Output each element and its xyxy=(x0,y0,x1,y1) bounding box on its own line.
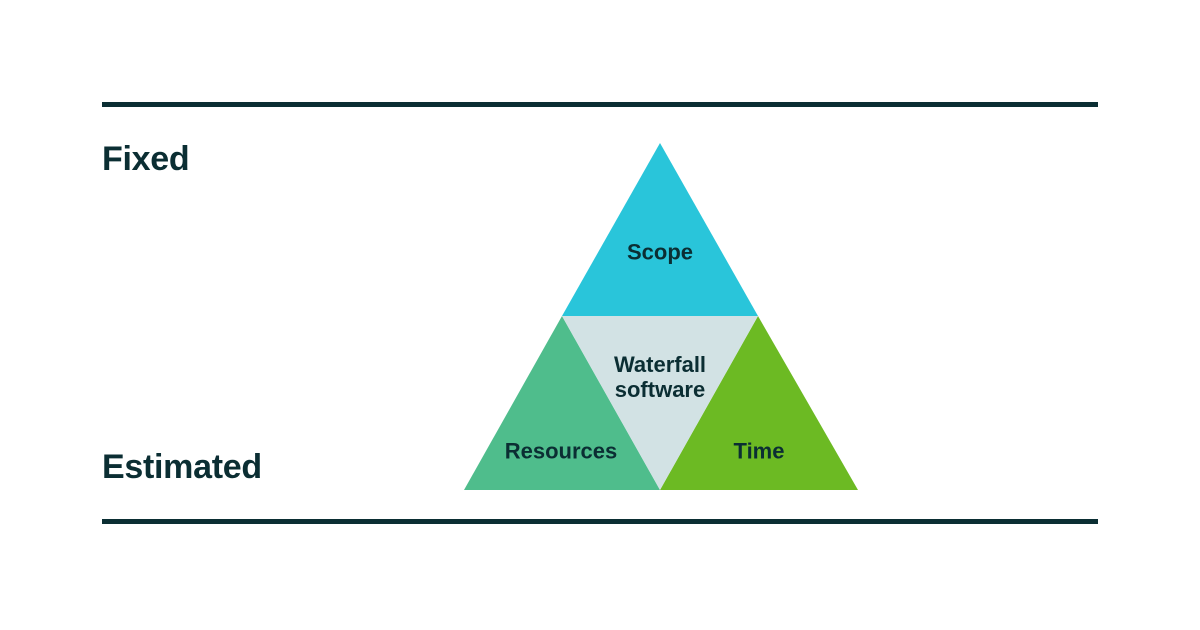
segment-scope-shape xyxy=(562,143,758,316)
axis-label-estimated: Estimated xyxy=(102,450,262,484)
segment-label-center-line-1: Waterfall xyxy=(580,352,740,377)
diagram-canvas: Fixed Estimated Scope Waterfall software… xyxy=(0,0,1200,630)
top-divider-rule xyxy=(102,102,1098,107)
segment-label-center-line-2: software xyxy=(580,377,740,402)
segment-label-time: Time xyxy=(734,439,785,464)
segment-label-resources: Resources xyxy=(505,439,618,464)
axis-label-fixed: Fixed xyxy=(102,142,189,176)
triangle-diagram: Scope Waterfall software Resources Time xyxy=(454,133,868,500)
bottom-divider-rule xyxy=(102,519,1098,524)
segment-label-center: Waterfall software xyxy=(580,352,740,402)
segment-label-scope: Scope xyxy=(627,240,693,265)
